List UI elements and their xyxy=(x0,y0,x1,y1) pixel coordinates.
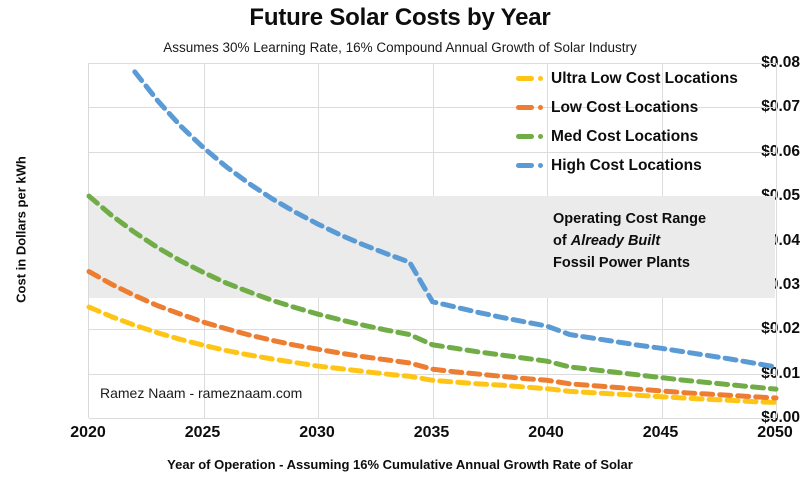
legend-swatch-icon xyxy=(516,76,546,81)
y-axis-title: Cost in Dollars per kWh xyxy=(14,130,29,330)
x-axis-tick-label: 2035 xyxy=(387,424,477,442)
legend-item[interactable]: Med Cost Locations xyxy=(516,122,778,151)
x-axis-tick-label: 2020 xyxy=(43,424,133,442)
x-axis-tick-label: 2030 xyxy=(272,424,362,442)
band-annotation-line3: Fossil Power Plants xyxy=(553,255,690,271)
legend-item[interactable]: Ultra Low Cost Locations xyxy=(516,64,778,93)
chart-subtitle: Assumes 30% Learning Rate, 16% Compound … xyxy=(0,40,800,55)
legend-item-label: High Cost Locations xyxy=(551,157,702,175)
legend-item[interactable]: High Cost Locations xyxy=(516,151,778,180)
x-axis-tick-label: 2045 xyxy=(616,424,706,442)
x-axis-tick-label: 2040 xyxy=(501,424,591,442)
legend-item-label: Low Cost Locations xyxy=(551,99,698,117)
band-annotation-line2-emphasis: Already Built xyxy=(571,233,660,249)
band-annotation: Operating Cost Range of Already Built Fo… xyxy=(553,208,783,274)
chart-title: Future Solar Costs by Year xyxy=(0,4,800,32)
legend-item-label: Med Cost Locations xyxy=(551,128,698,146)
legend-item-label: Ultra Low Cost Locations xyxy=(551,70,738,88)
band-annotation-line1: Operating Cost Range xyxy=(553,211,706,227)
band-annotation-line2-prefix: of xyxy=(553,233,571,249)
legend-swatch-icon xyxy=(516,134,546,139)
x-axis-tick-label: 2050 xyxy=(730,424,800,442)
solar-cost-chart: Future Solar Costs by Year Assumes 30% L… xyxy=(0,0,800,486)
legend-swatch-icon xyxy=(516,163,546,168)
gridline xyxy=(89,418,775,419)
legend-swatch-icon xyxy=(516,105,546,110)
chart-legend: Ultra Low Cost LocationsLow Cost Locatio… xyxy=(516,64,778,180)
x-axis-title: Year of Operation - Assuming 16% Cumulat… xyxy=(0,457,800,472)
credit-text: Ramez Naam - rameznaam.com xyxy=(100,385,302,401)
x-axis-tick-label: 2025 xyxy=(158,424,248,442)
legend-item[interactable]: Low Cost Locations xyxy=(516,93,778,122)
